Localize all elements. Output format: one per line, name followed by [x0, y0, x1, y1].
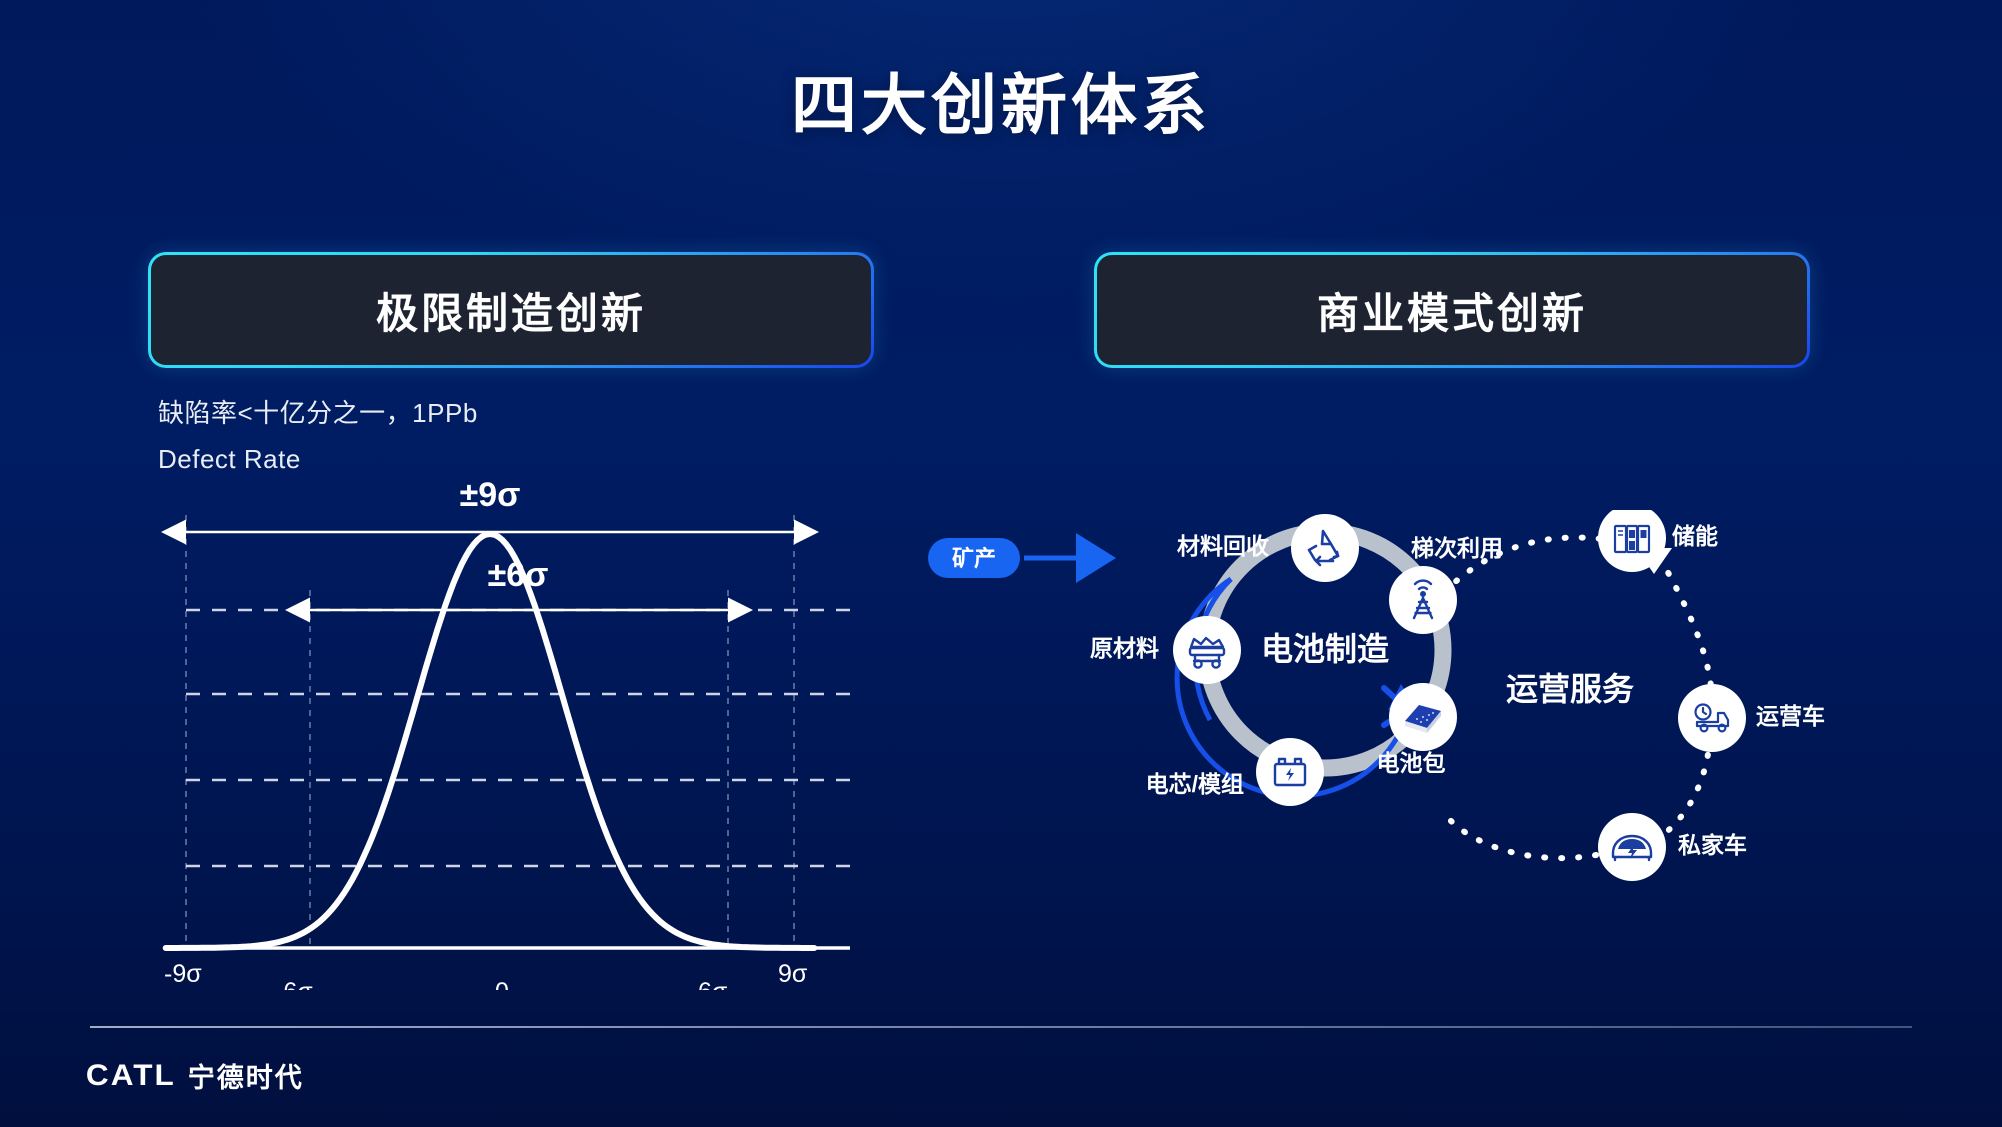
x-tick-label: 6σ [698, 978, 728, 990]
x-tick-label: -6σ [275, 978, 313, 990]
chart-horizontal-gridlines [186, 610, 850, 948]
node-cascade-utilization[interactable]: 梯次利用 [1389, 535, 1503, 634]
battery-manufacture-center-label: 电池制造 [1261, 631, 1389, 667]
material-recycling-label: 材料回收 [1177, 533, 1269, 559]
battery-pack-label: 电池包 [1377, 750, 1446, 776]
defect-distribution-chart: -9σ -6σ 0 6σ 9σ ±9σ ±6σ [150, 470, 850, 990]
chart-x-tick-labels: -9σ -6σ 0 6σ 9σ [164, 960, 808, 990]
sigma6-annotation-label: ±6σ [488, 556, 549, 594]
x-tick-label: 0 [495, 978, 509, 990]
defect-rate-block: 缺陷率<十亿分之一，1PPb Defect Rate [158, 390, 478, 482]
panel-header-inner: 商业模式创新 [1097, 255, 1807, 365]
operation-service-center-label: 运营服务 [1506, 671, 1634, 707]
defect-rate-value: 缺陷率<十亿分之一，1PPb [158, 390, 478, 436]
dotted-path-storage-to-opvehicle [1660, 558, 1712, 698]
raw-material-label: 原材料 [1090, 635, 1159, 661]
node-raw-material[interactable]: 原材料 [1090, 616, 1241, 684]
node-operating-vehicle[interactable]: 运营车 [1678, 684, 1825, 752]
catl-logo: CATL 宁德时代 [88, 1056, 304, 1095]
panel-header-label: 极限制造创新 [376, 280, 646, 341]
node-material-recycling-group[interactable]: 材料回收 [1177, 514, 1359, 582]
node-cell-module[interactable]: 电芯/模组 [1146, 738, 1324, 806]
dotted-path-privatecar-to-pack [1450, 820, 1596, 858]
material-recycling-circle [1291, 514, 1359, 582]
cell-module-label: 电芯/模组 [1146, 771, 1244, 797]
operating-vehicle-label: 运营车 [1756, 703, 1825, 729]
cascade-utilization-label: 梯次利用 [1411, 535, 1503, 561]
panel-header-business-model[interactable]: 商业模式创新 [1094, 252, 1810, 368]
electric-car-icon [1613, 836, 1651, 860]
node-private-car[interactable]: 私家车 [1598, 813, 1747, 881]
panel-header-inner: 极限制造创新 [151, 255, 871, 365]
catl-logo-latin: CATL [86, 1059, 176, 1093]
energy-storage-label: 储能 [1672, 523, 1718, 549]
page-title: 四大创新体系 [0, 52, 2002, 148]
panel-header-extreme-manufacturing[interactable]: 极限制造创新 [148, 252, 874, 368]
battery-lifecycle-diagram: 矿产 电池制造 [920, 510, 1930, 960]
operating-vehicle-circle [1678, 684, 1746, 752]
footer-divider [90, 1026, 1912, 1028]
bell-curve-path [166, 534, 815, 948]
mineral-source-label: 矿产 [952, 546, 996, 571]
node-battery-pack[interactable]: 电池包 [1377, 683, 1458, 776]
x-tick-label: 9σ [778, 960, 808, 988]
private-car-label: 私家车 [1678, 832, 1747, 858]
sigma9-annotation-label: ±9σ [460, 476, 521, 514]
panel-header-label: 商业模式创新 [1317, 280, 1587, 341]
x-tick-label: -9σ [164, 960, 202, 988]
catl-logo-chinese: 宁德时代 [188, 1056, 304, 1095]
raw-material-circle [1173, 616, 1241, 684]
